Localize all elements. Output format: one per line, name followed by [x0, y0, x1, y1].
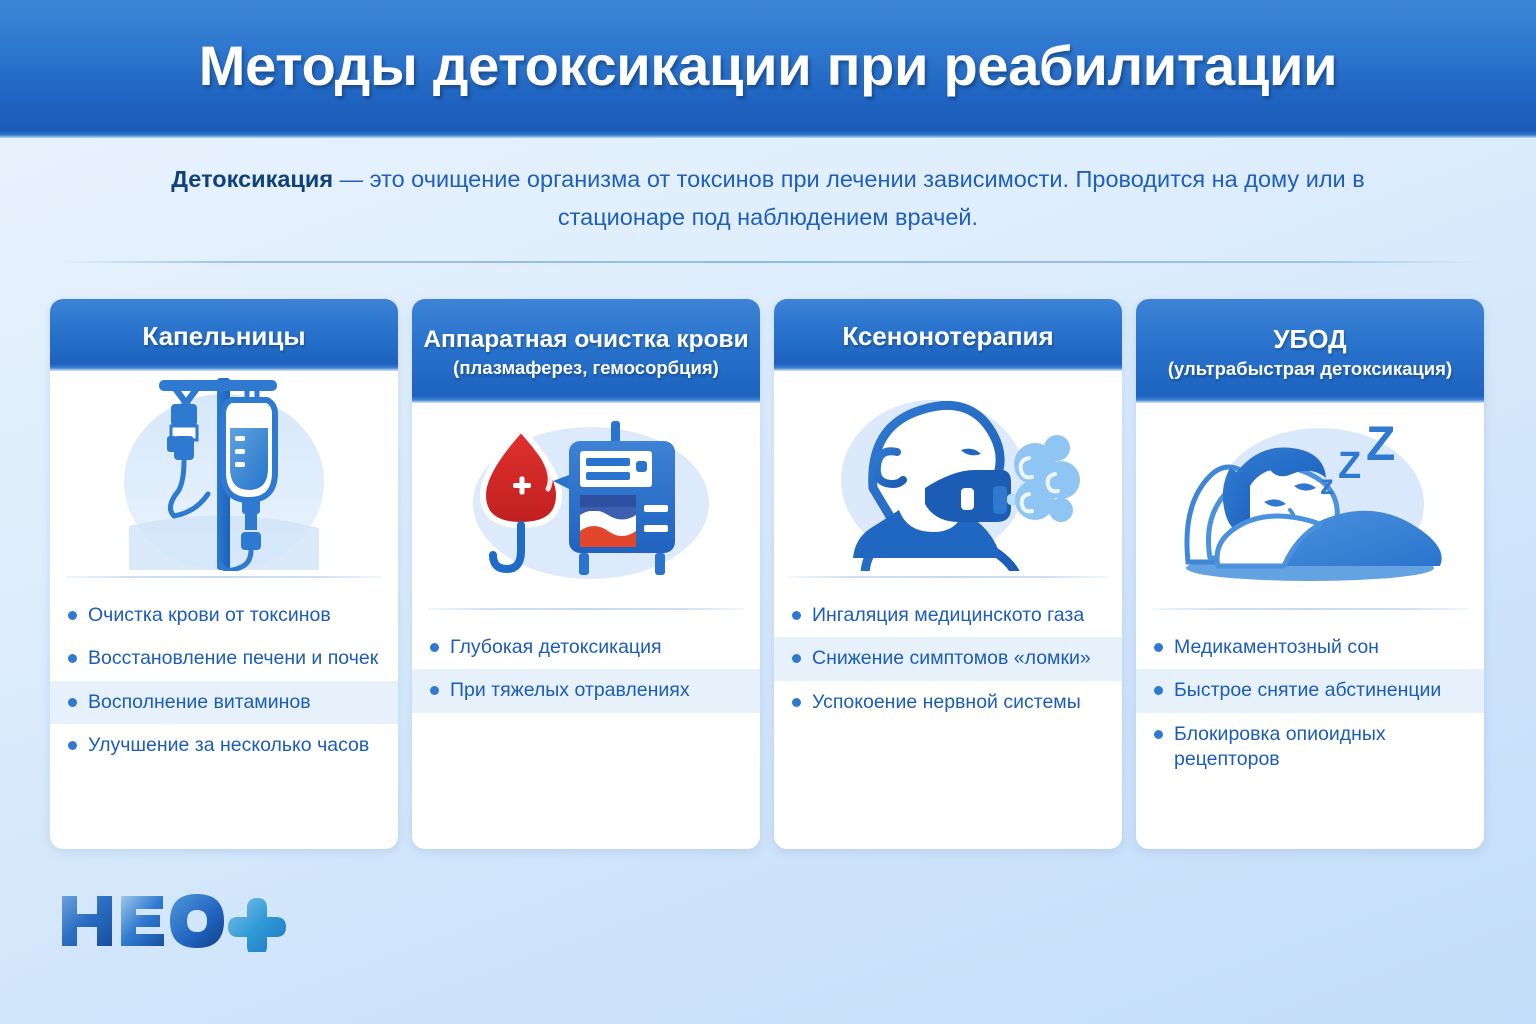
- list-item: Успокоение нервной системы: [774, 681, 1122, 724]
- card-title: УБОД: [1273, 325, 1346, 355]
- bullet-text: Восполнение витаминов: [88, 690, 382, 715]
- list-item: Улучшение за несколько часов: [50, 724, 398, 767]
- bullet-dot: [1154, 643, 1163, 652]
- bullet-text: Очистка крови от токсинов: [88, 603, 382, 628]
- bullet-dot: [68, 698, 77, 707]
- bullet-text: Ингаляция медицинското газа: [812, 603, 1106, 628]
- card-header-foot: [50, 363, 398, 371]
- card-header: Ксенонотерапия: [774, 299, 1122, 363]
- infographic-poster: Методы детоксикации при реабилитации Дет…: [0, 0, 1536, 1024]
- list-item-highlighted: Восполнение витаминов: [50, 681, 398, 724]
- bullet-dot: [792, 698, 801, 707]
- list-item: Очистка крови от токсинов: [50, 594, 398, 637]
- card-subtitle: (плазмаферез, гемосорбция): [453, 357, 719, 379]
- intro-lead: Детоксикация: [171, 166, 333, 192]
- card-header: УБОД (ультрабыстрая детоксикация): [1136, 299, 1484, 395]
- bullet-text: Глубокая детоксикация: [450, 635, 744, 660]
- card-header-foot: [412, 395, 760, 403]
- card-header-foot: [774, 363, 1122, 371]
- card-bullets: Очистка крови от токсинов Восстановление…: [50, 578, 398, 849]
- bullet-dot: [792, 611, 801, 620]
- bullet-dot: [430, 643, 439, 652]
- bullet-dot: [68, 741, 77, 750]
- card-header: Аппаратная очистка крови (плазмаферез, г…: [412, 299, 760, 395]
- card-header: Капельницы: [50, 299, 398, 363]
- bullet-dot: [68, 654, 77, 663]
- list-item: Ингаляция медицинското газа: [774, 594, 1122, 637]
- card-header-foot: [1136, 395, 1484, 403]
- bullet-text: Улучшение за несколько часов: [88, 733, 382, 758]
- list-item: Глубокая детоксикация: [412, 626, 760, 669]
- card-bullets: Ингаляция медицинското газа Снижение сим…: [774, 578, 1122, 849]
- list-item: Медикаментозный сон: [1136, 626, 1484, 669]
- bullet-dot: [430, 686, 439, 695]
- card-apparatnaya-ochistka-krovi[interactable]: Аппаратная очистка крови (плазмаферез, г…: [412, 299, 760, 849]
- bullet-text: При тяжелых отравлениях: [450, 678, 744, 703]
- bullet-dot: [1154, 686, 1163, 695]
- blood-purification-machine-icon: [412, 403, 760, 608]
- header-underline: [0, 131, 1536, 138]
- inhalation-mask-icon: [774, 371, 1122, 576]
- cards-row: Капельницы: [50, 299, 1484, 849]
- sleeping-patient-icon: z Z Z: [1136, 403, 1484, 608]
- brand-logo[interactable]: [58, 890, 298, 952]
- bullet-text: Успокоение нервной системы: [812, 690, 1106, 715]
- card-kapelnitsy[interactable]: Капельницы: [50, 299, 398, 849]
- card-bullets: Глубокая детоксикация При тяжелых отравл…: [412, 610, 760, 849]
- intro-paragraph: Детоксикация — это очищение организма от…: [168, 160, 1368, 236]
- intro-rest: — это очищение организма от токсинов при…: [333, 166, 1365, 230]
- card-ksenonoterapiya[interactable]: Ксенонотерапия: [774, 299, 1122, 849]
- list-item-highlighted: При тяжелых отравлениях: [412, 669, 760, 712]
- card-bullets: Медикаментозный сон Быстрое снятие абсти…: [1136, 610, 1484, 849]
- card-title: Аппаратная очистка крови: [423, 326, 748, 354]
- svg-text:Z: Z: [1338, 445, 1361, 487]
- bullet-dot: [792, 654, 801, 663]
- bullet-text: Блокировка опиоидных рецепторов: [1174, 722, 1468, 773]
- card-subtitle: (ультрабыстрая детоксикация): [1168, 358, 1452, 380]
- bullet-dot: [68, 611, 77, 620]
- bullet-text: Быстрое снятие абстиненции: [1174, 678, 1468, 703]
- list-item-highlighted: Снижение симптомов «ломки»: [774, 637, 1122, 680]
- bullet-text: Снижение симптомов «ломки»: [812, 646, 1106, 671]
- card-title: Ксенонотерапия: [842, 322, 1053, 352]
- intro-divider: [57, 261, 1479, 263]
- bullet-dot: [1154, 730, 1163, 739]
- card-title: Капельницы: [142, 322, 305, 352]
- list-item-highlighted: Быстрое снятие абстиненции: [1136, 669, 1484, 712]
- card-ubod[interactable]: УБОД (ультрабыстрая детоксикация): [1136, 299, 1484, 849]
- svg-text:z: z: [1320, 469, 1334, 500]
- bullet-text: Восстановление печени и почек: [88, 646, 382, 671]
- list-item: Блокировка опиоидных рецепторов: [1136, 713, 1484, 782]
- page-title: Методы детоксикации при реабилитации: [0, 0, 1536, 131]
- neo-plus-logo-icon: [58, 890, 298, 952]
- bullet-text: Медикаментозный сон: [1174, 635, 1468, 660]
- svg-text:Z: Z: [1366, 418, 1395, 471]
- iv-drip-icon: [50, 371, 398, 576]
- list-item: Восстановление печени и почек: [50, 637, 398, 680]
